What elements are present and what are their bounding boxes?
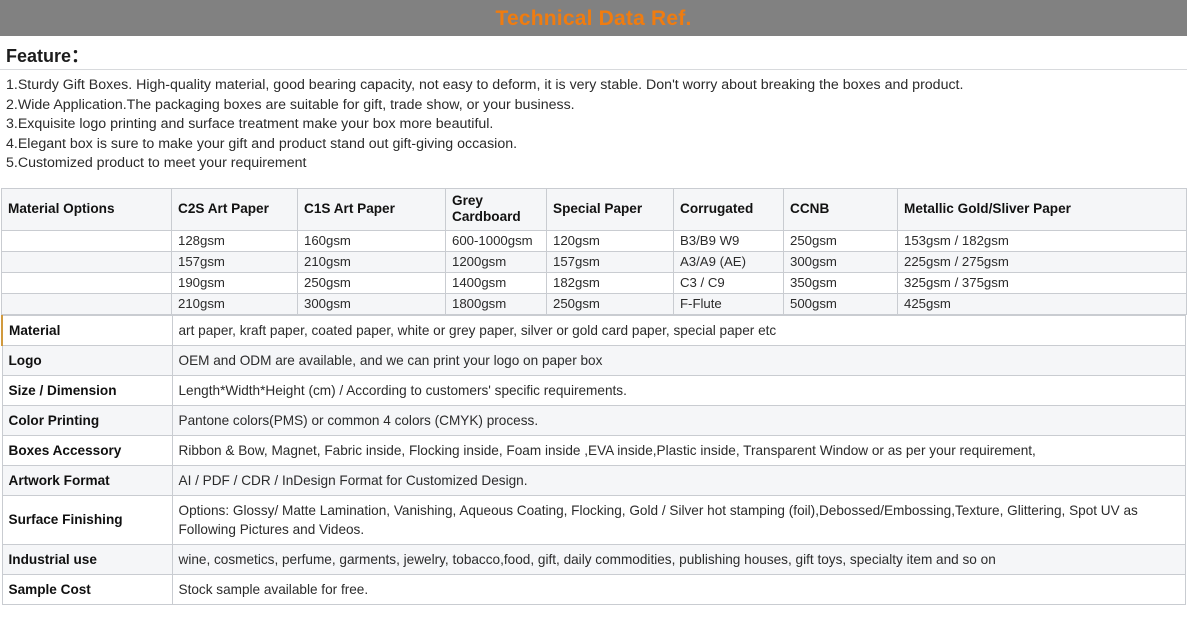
feature-heading: Feature： xyxy=(0,36,1187,70)
attribute-label: Material xyxy=(2,315,172,345)
attribute-row-sample-cost: Sample Cost Stock sample available for f… xyxy=(2,574,1186,604)
cell-c2s: 210gsm xyxy=(172,293,298,314)
cell-material-options xyxy=(2,230,172,251)
cell-metallic: 425gsm xyxy=(898,293,1187,314)
cell-grey: 600-1000gsm xyxy=(446,230,547,251)
cell-corrugated: C3 / C9 xyxy=(674,272,784,293)
cell-c2s: 190gsm xyxy=(172,272,298,293)
table-row: 210gsm 300gsm 1800gsm 250gsm F-Flute 500… xyxy=(2,293,1187,314)
table-row: 190gsm 250gsm 1400gsm 182gsm C3 / C9 350… xyxy=(2,272,1187,293)
feature-line: 2.Wide Application.The packaging boxes a… xyxy=(6,96,1181,116)
cell-c2s: 128gsm xyxy=(172,230,298,251)
attribute-value: Options: Glossy/ Matte Lamination, Vanis… xyxy=(172,495,1186,544)
table-row: 157gsm 210gsm 1200gsm 157gsm A3/A9 (AE) … xyxy=(2,251,1187,272)
column-header-grey-cardboard: Grey Cardboard xyxy=(446,188,547,230)
attribute-value: Pantone colors(PMS) or common 4 colors (… xyxy=(172,405,1186,435)
attribute-value: AI / PDF / CDR / InDesign Format for Cus… xyxy=(172,465,1186,495)
material-options-table: Material Options C2S Art Paper C1S Art P… xyxy=(1,188,1187,315)
cell-special: 250gsm xyxy=(547,293,674,314)
attribute-label: Color Printing xyxy=(2,405,172,435)
attribute-label: Logo xyxy=(2,345,172,375)
cell-grey: 1400gsm xyxy=(446,272,547,293)
cell-special: 120gsm xyxy=(547,230,674,251)
page-title: Technical Data Ref. xyxy=(496,8,692,29)
feature-line: 5.Customized product to meet your requir… xyxy=(6,154,1181,174)
cell-material-options xyxy=(2,251,172,272)
attribute-label: Industrial use xyxy=(2,544,172,574)
cell-corrugated: F-Flute xyxy=(674,293,784,314)
feature-line: 1.Sturdy Gift Boxes. High-quality materi… xyxy=(6,76,1181,96)
cell-ccnb: 250gsm xyxy=(784,230,898,251)
attribute-row-material: Material art paper, kraft paper, coated … xyxy=(2,315,1186,345)
attribute-label: Artwork Format xyxy=(2,465,172,495)
cell-metallic: 153gsm / 182gsm xyxy=(898,230,1187,251)
attribute-row-artwork-format: Artwork Format AI / PDF / CDR / InDesign… xyxy=(2,465,1186,495)
cell-ccnb: 500gsm xyxy=(784,293,898,314)
attribute-row-color-printing: Color Printing Pantone colors(PMS) or co… xyxy=(2,405,1186,435)
cell-ccnb: 300gsm xyxy=(784,251,898,272)
cell-c1s: 210gsm xyxy=(298,251,446,272)
column-header-corrugated: Corrugated xyxy=(674,188,784,230)
attribute-row-boxes-accessory: Boxes Accessory Ribbon & Bow, Magnet, Fa… xyxy=(2,435,1186,465)
attribute-row-size-dimension: Size / Dimension Length*Width*Height (cm… xyxy=(2,375,1186,405)
cell-material-options xyxy=(2,272,172,293)
cell-metallic: 325gsm / 375gsm xyxy=(898,272,1187,293)
feature-line: 4.Elegant box is sure to make your gift … xyxy=(6,135,1181,155)
attribute-value: Stock sample available for free. xyxy=(172,574,1186,604)
attribute-value: art paper, kraft paper, coated paper, wh… xyxy=(172,315,1186,345)
feature-list: 1.Sturdy Gift Boxes. High-quality materi… xyxy=(0,70,1187,182)
title-bar: Technical Data Ref. xyxy=(0,0,1187,36)
cell-special: 182gsm xyxy=(547,272,674,293)
column-header-metallic-paper: Metallic Gold/Sliver Paper xyxy=(898,188,1187,230)
feature-heading-label: Feature： xyxy=(6,46,89,66)
cell-grey: 1800gsm xyxy=(446,293,547,314)
attribute-value: Ribbon & Bow, Magnet, Fabric inside, Flo… xyxy=(172,435,1186,465)
column-header-c1s-art-paper: C1S Art Paper xyxy=(298,188,446,230)
cell-special: 157gsm xyxy=(547,251,674,272)
table-header-row: Material Options C2S Art Paper C1S Art P… xyxy=(2,188,1187,230)
table-row: 128gsm 160gsm 600-1000gsm 120gsm B3/B9 W… xyxy=(2,230,1187,251)
cell-ccnb: 350gsm xyxy=(784,272,898,293)
attribute-value: wine, cosmetics, perfume, garments, jewe… xyxy=(172,544,1186,574)
attribute-value: Length*Width*Height (cm) / According to … xyxy=(172,375,1186,405)
attribute-row-industrial-use: Industrial use wine, cosmetics, perfume,… xyxy=(2,544,1186,574)
attribute-row-logo: Logo OEM and ODM are available, and we c… xyxy=(2,345,1186,375)
technical-data-sheet: Technical Data Ref. Feature： 1.Sturdy Gi… xyxy=(0,0,1187,620)
cell-c2s: 157gsm xyxy=(172,251,298,272)
cell-c1s: 250gsm xyxy=(298,272,446,293)
attribute-value: OEM and ODM are available, and we can pr… xyxy=(172,345,1186,375)
cell-grey: 1200gsm xyxy=(446,251,547,272)
attribute-label: Sample Cost xyxy=(2,574,172,604)
feature-line: 3.Exquisite logo printing and surface tr… xyxy=(6,115,1181,135)
cell-corrugated: A3/A9 (AE) xyxy=(674,251,784,272)
column-header-ccnb: CCNB xyxy=(784,188,898,230)
attribute-label: Surface Finishing xyxy=(2,495,172,544)
attribute-label: Size / Dimension xyxy=(2,375,172,405)
cell-metallic: 225gsm / 275gsm xyxy=(898,251,1187,272)
column-header-special-paper: Special Paper xyxy=(547,188,674,230)
cell-c1s: 160gsm xyxy=(298,230,446,251)
column-header-material-options: Material Options xyxy=(2,188,172,230)
cell-corrugated: B3/B9 W9 xyxy=(674,230,784,251)
cell-material-options xyxy=(2,293,172,314)
column-header-c2s-art-paper: C2S Art Paper xyxy=(172,188,298,230)
cell-c1s: 300gsm xyxy=(298,293,446,314)
attribute-row-surface-finishing: Surface Finishing Options: Glossy/ Matte… xyxy=(2,495,1186,544)
attribute-label: Boxes Accessory xyxy=(2,435,172,465)
attributes-table: Material art paper, kraft paper, coated … xyxy=(1,315,1186,605)
